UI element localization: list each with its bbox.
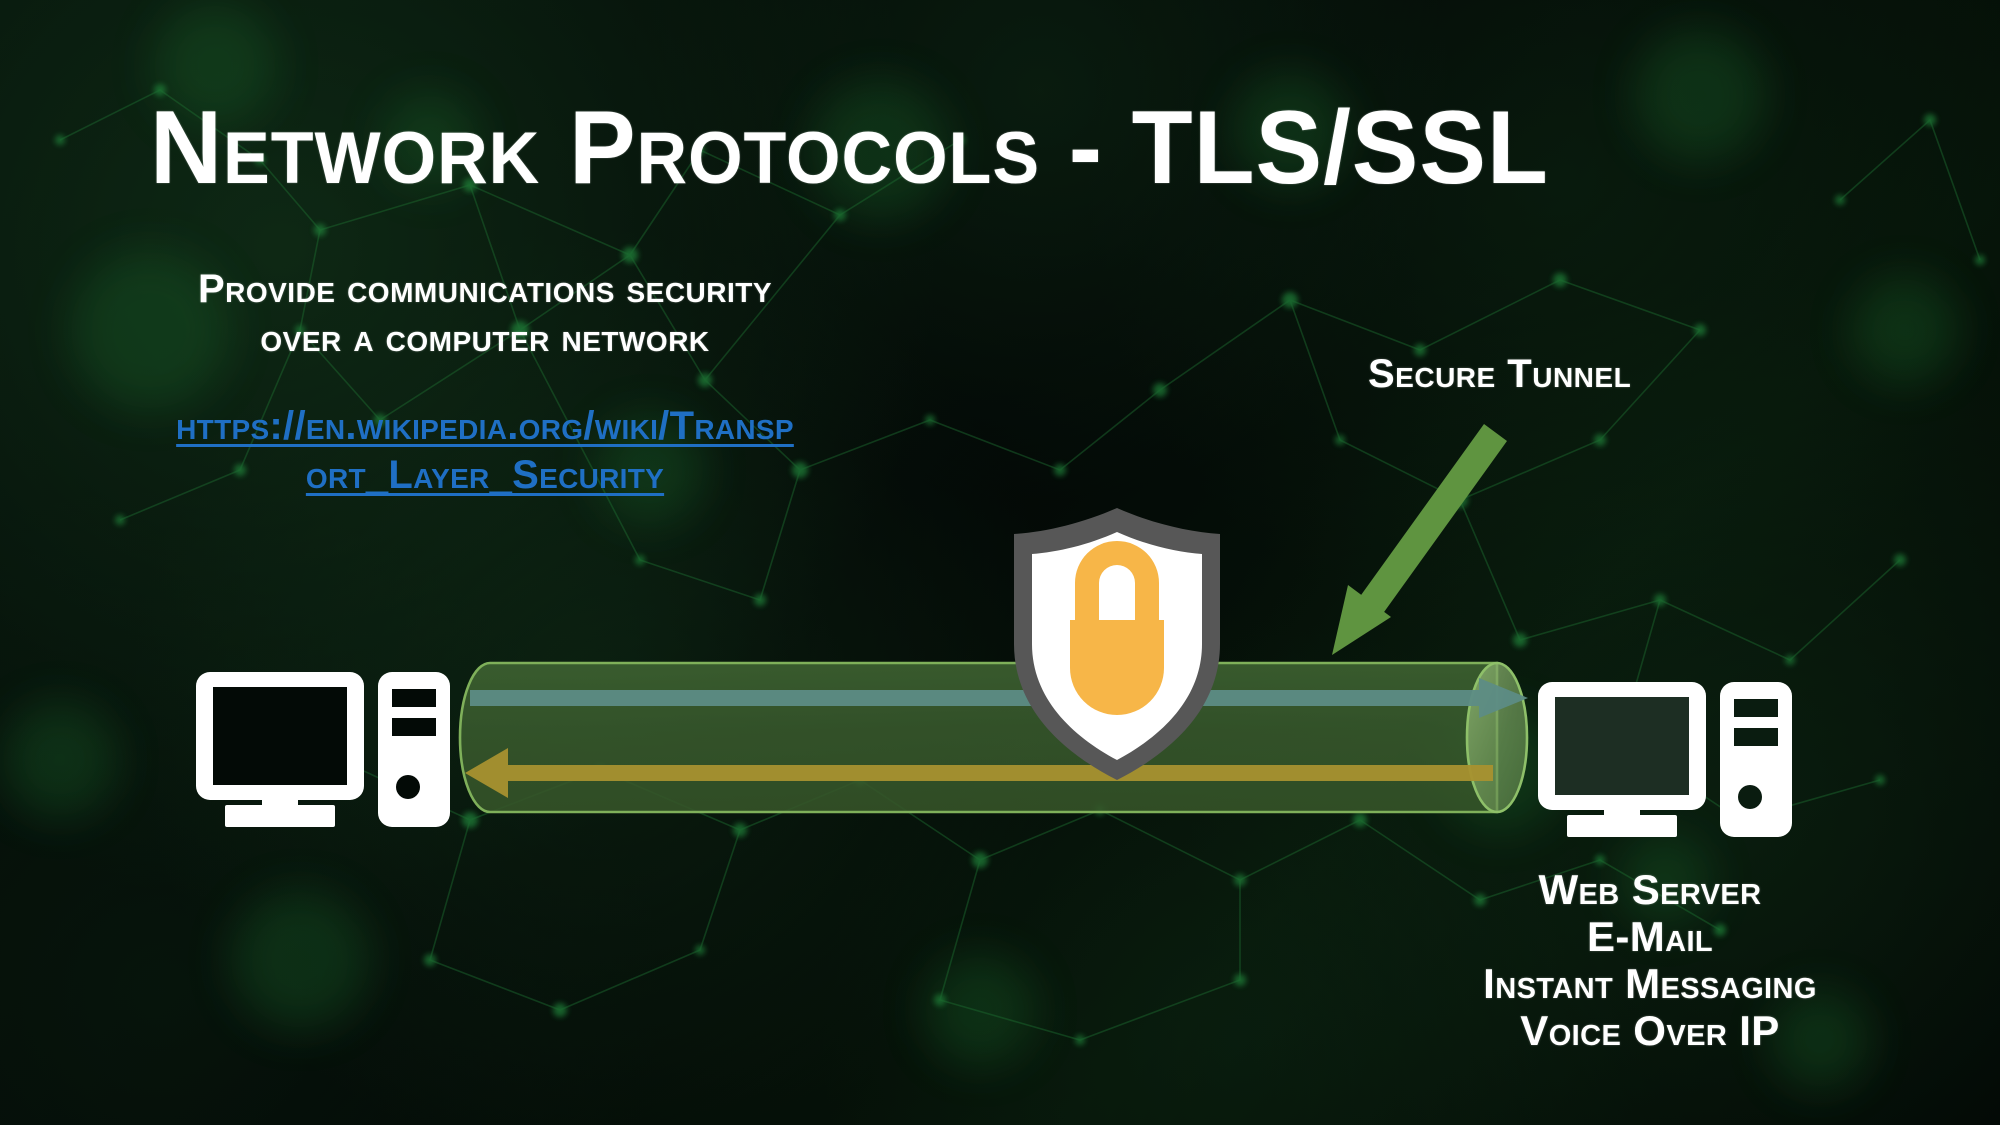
link-line-1[interactable]: https://en.wikipedia.org/wiki/Transp [80, 402, 890, 451]
subtitle-line-1: Provide communications security [140, 265, 830, 314]
subtitle-line-2: over a computer network [140, 314, 830, 363]
client-computer-icon [196, 672, 450, 827]
service-item-voice-over-ip: Voice Over IP [1400, 1007, 1900, 1054]
secure-tunnel-graphic [460, 663, 1527, 812]
service-item-email: E-Mail [1400, 913, 1900, 960]
wikipedia-reference-link[interactable]: https://en.wikipedia.org/wiki/Transp ort… [80, 402, 890, 500]
page-title: Network Protocols - TLS/SSL [150, 96, 1549, 200]
green-arrow-icon [1332, 424, 1507, 655]
tunnel-body [460, 663, 1497, 812]
server-services-list: Web Server E-Mail Instant Messaging Voic… [1400, 866, 1900, 1054]
slide-canvas: Network Protocols - TLS/SSL Provide comm… [0, 0, 2000, 1125]
service-item-web-server: Web Server [1400, 866, 1900, 913]
secure-tunnel-label: Secure Tunnel [1368, 352, 1631, 397]
subtitle-block: Provide communications security over a c… [140, 265, 830, 363]
link-line-2[interactable]: ort_Layer_Security [80, 451, 890, 500]
padlock-body [1070, 620, 1164, 715]
server-computer-icon [1538, 682, 1792, 837]
service-item-instant-messaging: Instant Messaging [1400, 960, 1900, 1007]
